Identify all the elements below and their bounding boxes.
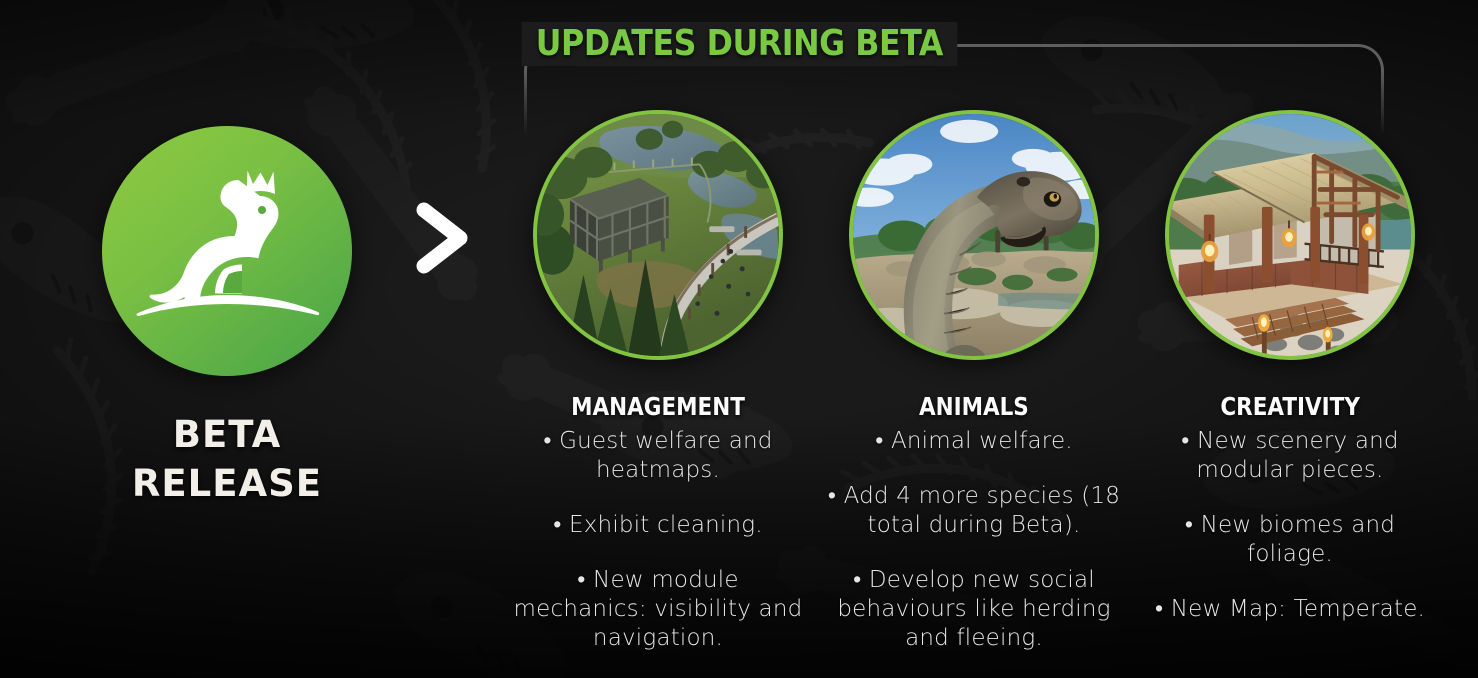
crowned-sauropod-logo-icon [102, 126, 352, 376]
bullet-item: • Develop new social behaviours like her… [823, 566, 1125, 653]
bullet-item: • Exhibit cleaning. [513, 511, 803, 540]
hero-caption: BETA RELEASE [82, 410, 372, 508]
hero-caption-line-2: RELEASE [82, 459, 372, 508]
park-enclosure-aerial-photo[interactable] [533, 110, 783, 360]
column-heading-animals: ANIMALS [919, 392, 1029, 421]
page-title-text: UPDATES DURING BETA [521, 22, 956, 66]
bullet-item: • Animal welfare. [823, 427, 1125, 456]
column-bullets-management: • Guest welfare and heatmaps. • Exhibit … [513, 427, 803, 653]
bullet-item: • New biomes and foliage. [1140, 511, 1440, 569]
column-bullets-creativity: • New scenery and modular pieces. • New … [1140, 427, 1440, 624]
column-creativity: CREATIVITY • New scenery and modular pie… [1132, 110, 1448, 653]
crowned-sauropod-logo [102, 126, 352, 376]
column-heading-creativity: CREATIVITY [1220, 392, 1360, 421]
bullet-item: • New module mechanics: visibility and n… [513, 566, 803, 653]
thatched-pavilion-building-photo[interactable] [1165, 110, 1415, 360]
column-heading-management: MANAGEMENT [571, 392, 745, 421]
page-title: UPDATES DURING BETA [0, 22, 1478, 66]
column-management: MANAGEMENT • Guest welfare and heatmaps.… [500, 110, 816, 653]
updates-columns: MANAGEMENT • Guest welfare and heatmaps.… [500, 110, 1448, 653]
bullet-item: • Add 4 more species (18 total during Be… [823, 482, 1125, 540]
bullet-item: • New scenery and modular pieces. [1140, 427, 1440, 485]
beta-release-hero: BETA RELEASE [102, 126, 352, 376]
sauropod-dinosaur-head-photo-art [853, 114, 1095, 356]
thatched-pavilion-building-photo-art [1169, 114, 1411, 356]
bullet-item: • New Map: Temperate. [1140, 595, 1440, 624]
park-enclosure-aerial-photo-art [537, 114, 779, 356]
bullet-item: • Guest welfare and heatmaps. [513, 427, 803, 485]
chevron-right-icon [412, 202, 474, 274]
hero-caption-line-1: BETA [82, 410, 372, 459]
column-bullets-animals: • Animal welfare. • Add 4 more species (… [823, 427, 1125, 653]
sauropod-dinosaur-head-photo[interactable] [849, 110, 1099, 360]
column-animals: ANIMALS • Animal welfare. • Add 4 more s… [816, 110, 1132, 653]
